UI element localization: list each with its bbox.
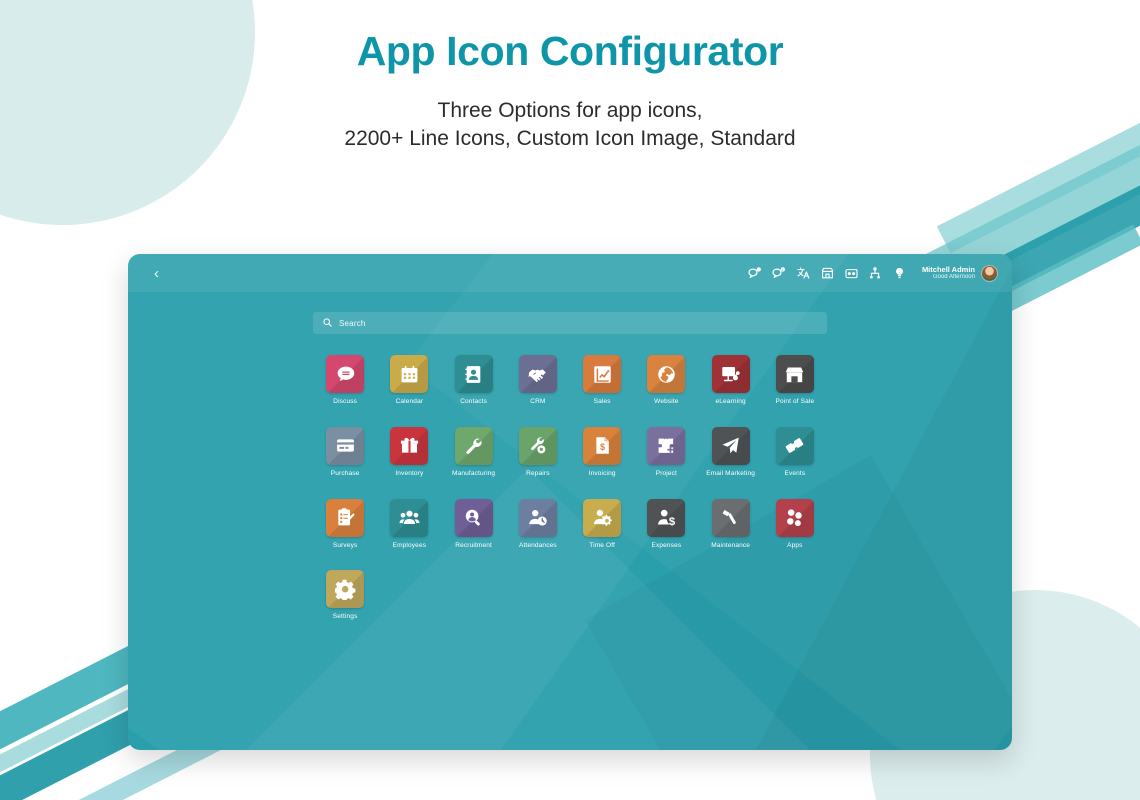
gear-icon[interactable] xyxy=(326,570,364,608)
app-label: Email Marketing xyxy=(706,470,755,478)
storefront-icon[interactable] xyxy=(776,355,814,393)
person-gear-icon[interactable] xyxy=(583,499,621,537)
app-item-manufacturing[interactable]: Manufacturing xyxy=(442,427,506,478)
app-item-maintenance[interactable]: Maintenance xyxy=(699,499,763,550)
user-text: Mitchell Admin Good Afternoon xyxy=(922,265,975,282)
contact-card-icon[interactable] xyxy=(455,355,493,393)
blocks-icon[interactable] xyxy=(776,499,814,537)
page-subtitle-line-1: Three Options for app icons, xyxy=(0,97,1140,125)
app-label: Invoicing xyxy=(589,470,616,478)
app-label: Calendar xyxy=(396,398,424,406)
svg-text:$: $ xyxy=(669,516,676,528)
back-button[interactable]: ‹ xyxy=(154,266,159,281)
user-name: Mitchell Admin xyxy=(922,265,975,274)
globe-icon[interactable] xyxy=(647,355,685,393)
app-window-mockup: ‹ 1 xyxy=(128,254,1012,750)
activities-icon[interactable]: 1 xyxy=(772,266,787,281)
app-item-elearning[interactable]: eLearning xyxy=(699,355,763,406)
app-label: Surveys xyxy=(333,542,358,550)
search-icon xyxy=(323,314,332,332)
app-label: Discuss xyxy=(333,398,357,406)
app-label: Expenses xyxy=(652,542,682,550)
invoice-icon[interactable]: $ xyxy=(583,427,621,465)
user-menu[interactable]: Mitchell Admin Good Afternoon xyxy=(922,265,998,282)
app-label: Time Off xyxy=(589,542,615,550)
app-item-project[interactable]: Project xyxy=(634,427,698,478)
app-item-sales[interactable]: Sales xyxy=(570,355,634,406)
people-icon[interactable] xyxy=(390,499,428,537)
app-label: Inventory xyxy=(395,470,423,478)
search-input[interactable]: Search xyxy=(313,312,827,334)
app-label: Recruitment xyxy=(455,542,492,550)
app-item-calendar[interactable]: Calendar xyxy=(377,355,441,406)
app-item-invoicing[interactable]: $Invoicing xyxy=(570,427,634,478)
app-label: Point of Sale xyxy=(775,398,814,406)
svg-text:$: $ xyxy=(600,442,605,452)
wrench-gear-icon[interactable] xyxy=(519,427,557,465)
app-label: Maintenance xyxy=(711,542,750,550)
app-item-email-marketing[interactable]: Email Marketing xyxy=(699,427,763,478)
window-topbar: ‹ 1 xyxy=(128,254,1012,292)
presentation-icon[interactable] xyxy=(712,355,750,393)
app-item-contacts[interactable]: Contacts xyxy=(442,355,506,406)
app-label: Apps xyxy=(787,542,802,550)
app-item-repairs[interactable]: Repairs xyxy=(506,427,570,478)
search-person-icon[interactable] xyxy=(455,499,493,537)
app-label: Purchase xyxy=(331,470,360,478)
search-placeholder: Search xyxy=(339,319,366,328)
app-label: Website xyxy=(654,398,678,406)
app-label: Repairs xyxy=(526,470,549,478)
app-label: Manufacturing xyxy=(452,470,495,478)
sitemap-icon[interactable] xyxy=(868,266,883,281)
page-subtitle: Three Options for app icons, 2200+ Line … xyxy=(0,97,1140,154)
user-greeting: Good Afternoon xyxy=(922,274,975,282)
person-clock-icon[interactable] xyxy=(519,499,557,537)
app-label: Sales xyxy=(594,398,611,406)
app-label: Events xyxy=(784,470,805,478)
app-item-attendances[interactable]: Attendances xyxy=(506,499,570,550)
app-label: CRM xyxy=(530,398,545,406)
wrench-icon[interactable] xyxy=(455,427,493,465)
app-label: Project xyxy=(656,470,677,478)
chat-bubble-icon[interactable] xyxy=(326,355,364,393)
credit-card-icon[interactable] xyxy=(326,427,364,465)
app-item-employees[interactable]: Employees xyxy=(377,499,441,550)
app-label: eLearning xyxy=(715,398,745,406)
app-item-apps[interactable]: Apps xyxy=(763,499,827,550)
app-item-events[interactable]: Events xyxy=(763,427,827,478)
lightbulb-icon[interactable] xyxy=(892,266,907,281)
app-label: Contacts xyxy=(460,398,487,406)
chart-up-icon[interactable] xyxy=(583,355,621,393)
app-item-surveys[interactable]: Surveys xyxy=(313,499,377,550)
page-subtitle-line-2: 2200+ Line Icons, Custom Icon Image, Sta… xyxy=(0,125,1140,153)
gallery-icon[interactable] xyxy=(844,266,859,281)
page-header: App Icon Configurator Three Options for … xyxy=(0,28,1140,154)
app-item-settings[interactable]: Settings xyxy=(313,570,377,621)
hammer-icon[interactable] xyxy=(712,499,750,537)
translate-icon[interactable] xyxy=(796,266,811,281)
calendar-icon[interactable] xyxy=(390,355,428,393)
app-item-recruitment[interactable]: Recruitment xyxy=(442,499,506,550)
app-label: Attendances xyxy=(519,542,557,550)
avatar[interactable] xyxy=(981,265,998,282)
app-item-crm[interactable]: CRM xyxy=(506,355,570,406)
paper-plane-icon[interactable] xyxy=(712,427,750,465)
puzzle-plus-icon[interactable] xyxy=(647,427,685,465)
app-label: Employees xyxy=(393,542,427,550)
search-row: Search xyxy=(128,292,1012,334)
app-item-time-off[interactable]: Time Off xyxy=(570,499,634,550)
app-item-purchase[interactable]: Purchase xyxy=(313,427,377,478)
app-grid-wrap: DiscussCalendarContactsCRMSalesWebsiteeL… xyxy=(313,355,827,621)
app-grid: DiscussCalendarContactsCRMSalesWebsiteeL… xyxy=(313,355,827,621)
page-title: App Icon Configurator xyxy=(0,28,1140,75)
clipboard-pen-icon[interactable] xyxy=(326,499,364,537)
app-label: Settings xyxy=(333,613,358,621)
systray: 1 xyxy=(748,265,998,282)
open-box-icon[interactable] xyxy=(390,427,428,465)
app-item-website[interactable]: Website xyxy=(634,355,698,406)
shop-icon[interactable] xyxy=(820,266,835,281)
app-item-inventory[interactable]: Inventory xyxy=(377,427,441,478)
handshake-icon[interactable] xyxy=(519,355,557,393)
ticket-icon[interactable] xyxy=(776,427,814,465)
messages-icon[interactable] xyxy=(748,266,763,281)
person-dollar-icon[interactable]: $ xyxy=(647,499,685,537)
app-item-point-of-sale[interactable]: Point of Sale xyxy=(763,355,827,406)
app-item-discuss[interactable]: Discuss xyxy=(313,355,377,406)
app-item-expenses[interactable]: $Expenses xyxy=(634,499,698,550)
